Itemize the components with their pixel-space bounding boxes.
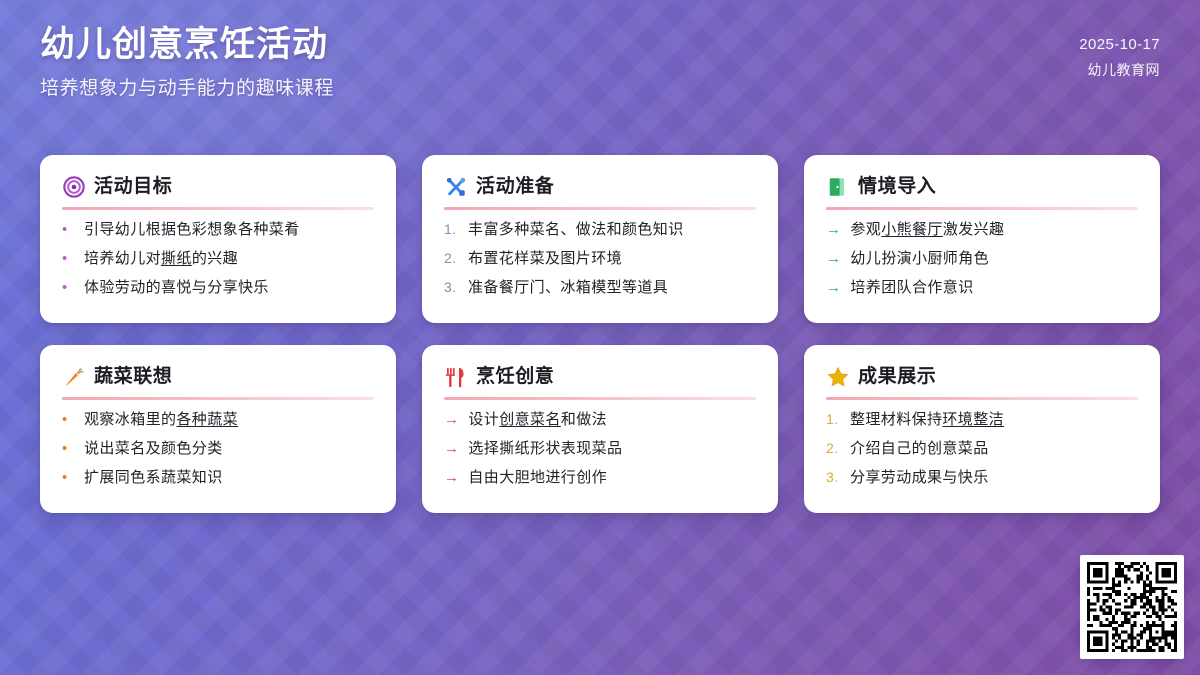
list-marker-bullet: • xyxy=(62,412,75,429)
text-highlight: 撕纸 xyxy=(161,250,192,267)
qr-code[interactable] xyxy=(1080,555,1184,659)
card-title: 活动目标 xyxy=(94,177,172,196)
text-plain-lead: 说出菜名及颜色分类 xyxy=(84,440,223,457)
card-divider xyxy=(444,207,756,210)
text-highlight: 创意菜名 xyxy=(499,411,561,428)
text-plain-tail: 和做法 xyxy=(561,411,607,428)
text-highlight: 各种蔬菜 xyxy=(176,411,238,428)
text-plain-tail: 的兴趣 xyxy=(192,250,238,267)
card-1: 活动目标•引导幼儿根据色彩想象各种菜肴•培养幼儿对撕纸的兴趣•体验劳动的喜悦与分… xyxy=(40,155,396,323)
card-divider xyxy=(444,397,756,400)
list-item: →选择撕纸形状表现菜品 xyxy=(444,440,756,459)
list-item: 3.准备餐厅门、冰箱模型等道具 xyxy=(444,279,756,298)
text-highlight: 环境整洁 xyxy=(942,411,1004,428)
list-marker-number: 1. xyxy=(444,222,459,237)
list-marker-arrow: → xyxy=(826,222,841,239)
card-title: 活动准备 xyxy=(476,177,554,196)
card-2: 活动准备1.丰富多种菜名、做法和颜色知识2.布置花样菜及图片环境3.准备餐厅门、… xyxy=(422,155,778,323)
list-marker-number: 2. xyxy=(444,251,459,266)
text-plain-lead: 丰富多种菜名、做法和颜色知识 xyxy=(468,221,684,238)
list-item-text: 选择撕纸形状表现菜品 xyxy=(468,440,622,459)
list-item: 1.丰富多种菜名、做法和颜色知识 xyxy=(444,221,756,240)
list-item: •扩展同色系蔬菜知识 xyxy=(62,469,374,488)
text-plain-lead: 整理材料保持 xyxy=(850,411,942,428)
text-highlight: 小熊餐厅 xyxy=(881,221,943,238)
header-meta: 2025-10-17 幼儿教育网 xyxy=(1079,36,1160,80)
list-marker-number: 1. xyxy=(826,412,841,427)
text-plain-lead: 扩展同色系蔬菜知识 xyxy=(84,469,223,486)
card-header: 蔬菜联想 xyxy=(62,365,374,388)
bullseye-target-icon xyxy=(62,175,85,198)
list-marker-number: 3. xyxy=(826,470,841,485)
text-plain-lead: 幼儿扮演小厨师角色 xyxy=(850,250,989,267)
list-item: •体验劳动的喜悦与分享快乐 xyxy=(62,279,374,298)
list-item-text: 体验劳动的喜悦与分享快乐 xyxy=(84,279,269,298)
list-item: 2.布置花样菜及图片环境 xyxy=(444,250,756,269)
fork-and-knife-icon xyxy=(444,365,467,388)
list-item: •观察冰箱里的各种蔬菜 xyxy=(62,411,374,430)
card-3: 情境导入→参观小熊餐厅激发兴趣→幼儿扮演小厨师角色→培养团队合作意识 xyxy=(804,155,1160,323)
slide-header: 幼儿创意烹饪活动 培养想象力与动手能力的趣味课程 2025-10-17 幼儿教育… xyxy=(40,24,1160,124)
list-item: →参观小熊餐厅激发兴趣 xyxy=(826,221,1138,240)
list-marker-arrow: → xyxy=(826,251,841,268)
list-item-text: 引导幼儿根据色彩想象各种菜肴 xyxy=(84,221,300,240)
text-plain-lead: 培养幼儿对 xyxy=(84,250,161,267)
text-plain-lead: 培养团队合作意识 xyxy=(850,279,973,296)
card-header: 情境导入 xyxy=(826,175,1138,198)
list-item: •说出菜名及颜色分类 xyxy=(62,440,374,459)
list-item: →幼儿扮演小厨师角色 xyxy=(826,250,1138,269)
list-marker-bullet: • xyxy=(62,222,75,239)
list-item-text: 扩展同色系蔬菜知识 xyxy=(84,469,223,488)
card-item-list: 1.丰富多种菜名、做法和颜色知识2.布置花样菜及图片环境3.准备餐厅门、冰箱模型… xyxy=(444,221,756,297)
card-divider xyxy=(62,397,374,400)
list-item-text: 幼儿扮演小厨师角色 xyxy=(850,250,989,269)
card-title: 情境导入 xyxy=(858,177,936,196)
list-marker-number: 3. xyxy=(444,280,459,295)
card-item-list: •引导幼儿根据色彩想象各种菜肴•培养幼儿对撕纸的兴趣•体验劳动的喜悦与分享快乐 xyxy=(62,221,374,297)
card-5: 烹饪创意→设计创意菜名和做法→选择撕纸形状表现菜品→自由大胆地进行创作 xyxy=(422,345,778,513)
page-subtitle: 培养想象力与动手能力的趣味课程 xyxy=(40,73,1160,100)
list-item: 1.整理材料保持环境整洁 xyxy=(826,411,1138,430)
list-item-text: 设计创意菜名和做法 xyxy=(468,411,607,430)
list-item-text: 丰富多种菜名、做法和颜色知识 xyxy=(468,221,684,240)
card-header: 活动准备 xyxy=(444,175,756,198)
list-item-text: 参观小熊餐厅激发兴趣 xyxy=(850,221,1004,240)
text-plain-lead: 体验劳动的喜悦与分享快乐 xyxy=(84,279,269,296)
list-item-text: 准备餐厅门、冰箱模型等道具 xyxy=(468,279,668,298)
list-item: •培养幼儿对撕纸的兴趣 xyxy=(62,250,374,269)
card-4: 蔬菜联想•观察冰箱里的各种蔬菜•说出菜名及颜色分类•扩展同色系蔬菜知识 xyxy=(40,345,396,513)
list-marker-arrow: → xyxy=(826,280,841,297)
card-header: 活动目标 xyxy=(62,175,374,198)
list-item-text: 分享劳动成果与快乐 xyxy=(850,469,989,488)
organization-label: 幼儿教育网 xyxy=(1079,60,1160,80)
card-title: 烹饪创意 xyxy=(476,367,554,386)
star-icon xyxy=(826,365,849,388)
text-plain-lead: 选择撕纸形状表现菜品 xyxy=(468,440,622,457)
list-item-text: 培养团队合作意识 xyxy=(850,279,973,298)
list-marker-arrow: → xyxy=(444,441,459,458)
list-marker-bullet: • xyxy=(62,251,75,268)
list-item: 2.介绍自己的创意菜品 xyxy=(826,440,1138,459)
card-item-list: 1.整理材料保持环境整洁2.介绍自己的创意菜品3.分享劳动成果与快乐 xyxy=(826,411,1138,487)
list-marker-number: 2. xyxy=(826,441,841,456)
date-label: 2025-10-17 xyxy=(1079,36,1160,53)
hammer-and-wrench-icon xyxy=(444,175,467,198)
door-icon xyxy=(826,175,849,198)
list-item-text: 培养幼儿对撕纸的兴趣 xyxy=(84,250,238,269)
list-item: →自由大胆地进行创作 xyxy=(444,469,756,488)
list-marker-arrow: → xyxy=(444,412,459,429)
card-item-list: •观察冰箱里的各种蔬菜•说出菜名及颜色分类•扩展同色系蔬菜知识 xyxy=(62,411,374,487)
card-divider xyxy=(62,207,374,210)
text-plain-lead: 设计 xyxy=(468,411,499,428)
text-plain-lead: 自由大胆地进行创作 xyxy=(468,469,607,486)
list-item: 3.分享劳动成果与快乐 xyxy=(826,469,1138,488)
text-plain-lead: 布置花样菜及图片环境 xyxy=(468,250,622,267)
carrot-icon xyxy=(62,365,85,388)
text-plain-lead: 观察冰箱里的 xyxy=(84,411,176,428)
list-item-text: 介绍自己的创意菜品 xyxy=(850,440,989,459)
list-item-text: 整理材料保持环境整洁 xyxy=(850,411,1004,430)
list-item-text: 自由大胆地进行创作 xyxy=(468,469,607,488)
list-marker-bullet: • xyxy=(62,470,75,487)
text-plain-lead: 引导幼儿根据色彩想象各种菜肴 xyxy=(84,221,300,238)
card-item-list: →设计创意菜名和做法→选择撕纸形状表现菜品→自由大胆地进行创作 xyxy=(444,411,756,487)
card-header: 烹饪创意 xyxy=(444,365,756,388)
text-plain-lead: 介绍自己的创意菜品 xyxy=(850,440,989,457)
list-marker-arrow: → xyxy=(444,470,459,487)
list-item-text: 布置花样菜及图片环境 xyxy=(468,250,622,269)
text-plain-tail: 激发兴趣 xyxy=(943,221,1005,238)
list-item: →培养团队合作意识 xyxy=(826,279,1138,298)
list-marker-bullet: • xyxy=(62,441,75,458)
list-item: •引导幼儿根据色彩想象各种菜肴 xyxy=(62,221,374,240)
card-6: 成果展示1.整理材料保持环境整洁2.介绍自己的创意菜品3.分享劳动成果与快乐 xyxy=(804,345,1160,513)
card-title: 成果展示 xyxy=(858,367,936,386)
card-item-list: →参观小熊餐厅激发兴趣→幼儿扮演小厨师角色→培养团队合作意识 xyxy=(826,221,1138,297)
list-marker-bullet: • xyxy=(62,280,75,297)
list-item-text: 说出菜名及颜色分类 xyxy=(84,440,223,459)
cards-grid: 活动目标•引导幼儿根据色彩想象各种菜肴•培养幼儿对撕纸的兴趣•体验劳动的喜悦与分… xyxy=(40,155,1160,513)
card-title: 蔬菜联想 xyxy=(94,367,172,386)
text-plain-lead: 参观 xyxy=(850,221,881,238)
card-divider xyxy=(826,207,1138,210)
list-item-text: 观察冰箱里的各种蔬菜 xyxy=(84,411,238,430)
page-title: 幼儿创意烹饪活动 xyxy=(40,24,1160,66)
card-header: 成果展示 xyxy=(826,365,1138,388)
card-divider xyxy=(826,397,1138,400)
qr-code-image xyxy=(1087,562,1177,652)
text-plain-lead: 分享劳动成果与快乐 xyxy=(850,469,989,486)
text-plain-lead: 准备餐厅门、冰箱模型等道具 xyxy=(468,279,668,296)
list-item: →设计创意菜名和做法 xyxy=(444,411,756,430)
